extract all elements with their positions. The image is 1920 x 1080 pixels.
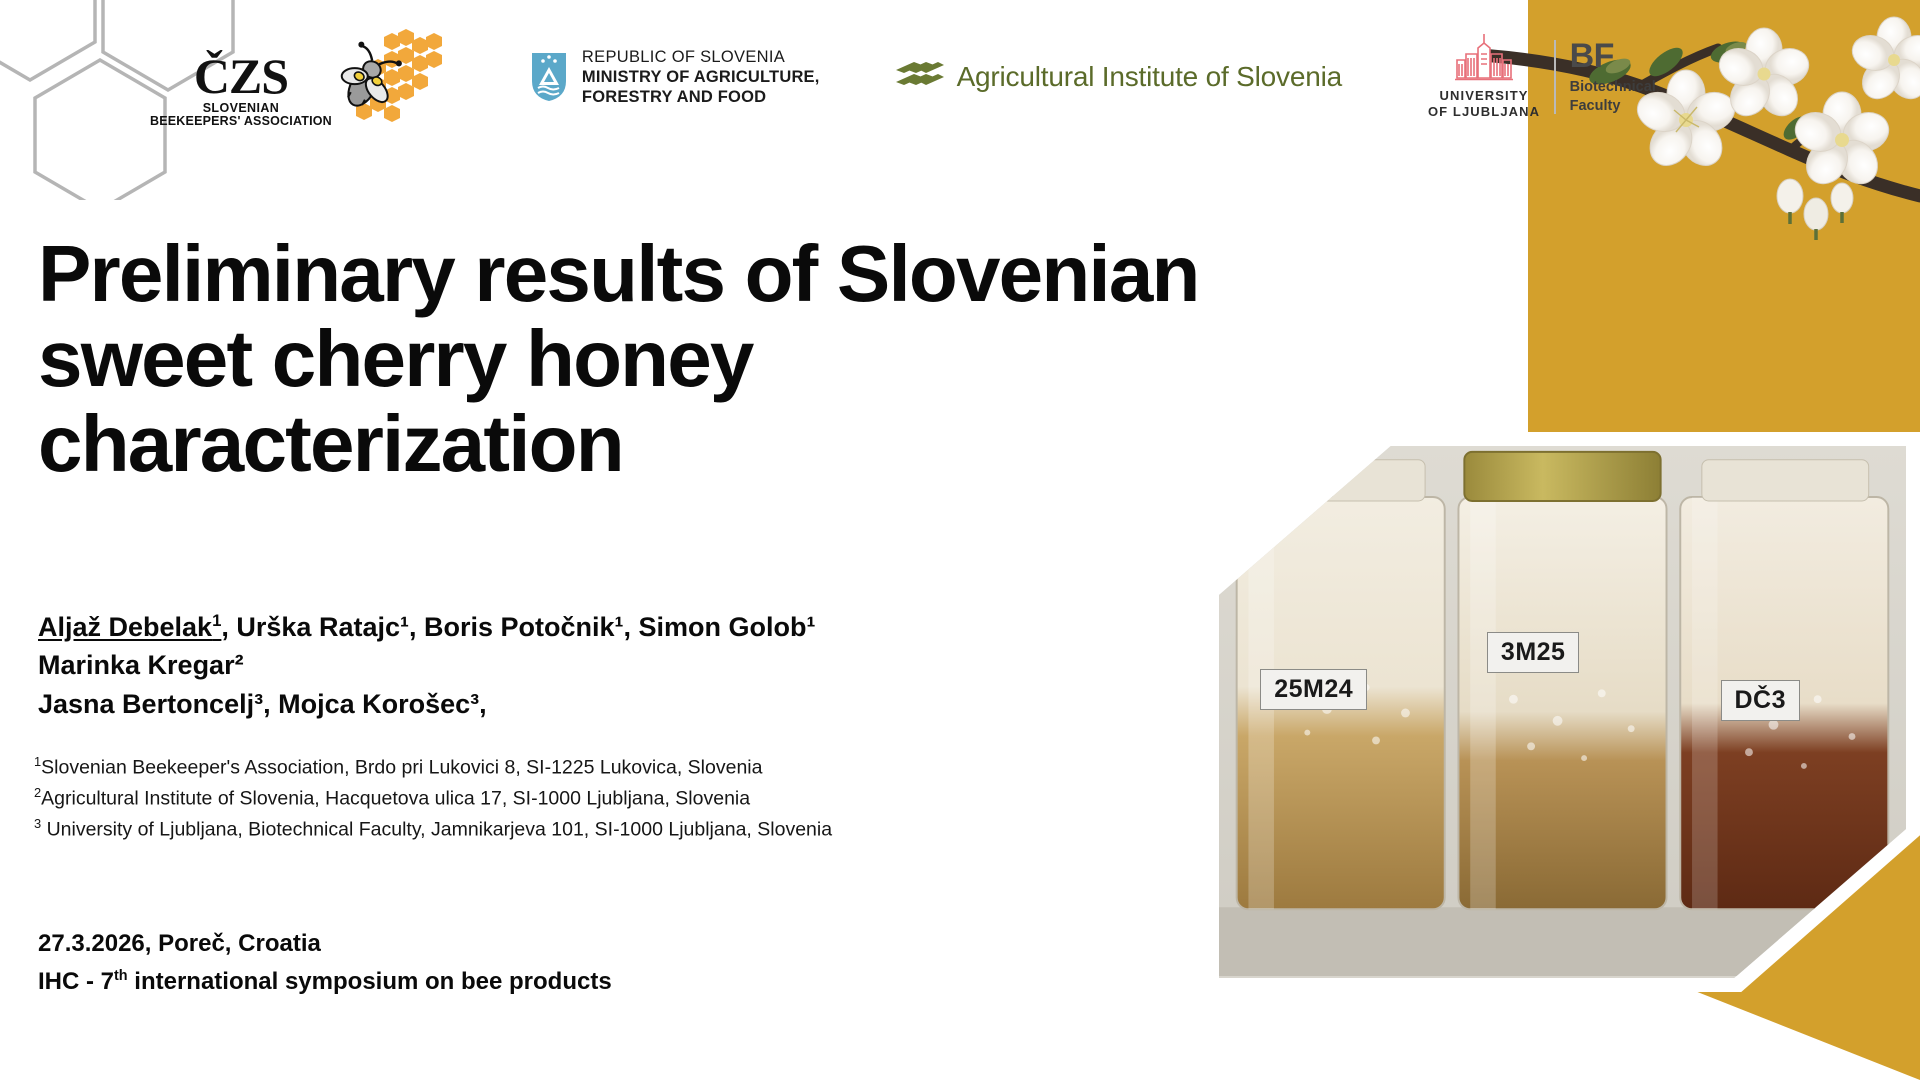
faculty-name-line2: Faculty bbox=[1570, 97, 1656, 115]
event-ordinal-suffix: th bbox=[114, 968, 128, 984]
event-name-suffix: international symposium on bee products bbox=[128, 968, 612, 995]
ministry-line3: FORESTRY AND FOOD bbox=[582, 87, 820, 107]
logo-ministry: REPUBLIC OF SLOVENIA MINISTRY OF AGRICUL… bbox=[530, 47, 820, 107]
author-line-3: Jasna Bertoncelj³, Mojca Korošec³, bbox=[38, 685, 1168, 723]
author-list: Aljaž Debelak1, Urška Ratajc¹, Boris Pot… bbox=[38, 608, 1168, 723]
affiliation-item: 3 University of Ljubljana, Biotechnical … bbox=[34, 814, 1194, 845]
biotechnical-faculty-mark: BF bbox=[1570, 39, 1656, 73]
honey-jars-photo bbox=[1219, 446, 1906, 976]
jar-label-DC3: DČ3 bbox=[1721, 680, 1801, 721]
logo-row: ČZS SLOVENIAN BEEKEEPERS' ASSOCIATION bbox=[150, 22, 1656, 132]
logo-agricultural-institute: Agricultural Institute of Slovenia bbox=[892, 54, 1342, 100]
jar-label-25M24: 25M24 bbox=[1260, 669, 1367, 710]
page-title: Preliminary results of Slovenian sweet c… bbox=[38, 232, 1218, 486]
event-name-prefix: IHC - 7 bbox=[38, 968, 114, 995]
university-name-line2: OF LJUBLJANA bbox=[1428, 104, 1540, 120]
faculty-name-line1: Biotechnical bbox=[1570, 78, 1656, 96]
affiliation-text: University of Ljubljana, Biotechnical Fa… bbox=[41, 819, 832, 841]
bee-honeycomb-icon bbox=[334, 27, 452, 127]
logo-czs: ČZS SLOVENIAN BEEKEEPERS' ASSOCIATION bbox=[150, 27, 452, 127]
affiliation-list: 1Slovenian Beekeeper's Association, Brdo… bbox=[34, 752, 1194, 845]
author-line-1: Aljaž Debelak1, Urška Ratajc¹, Boris Pot… bbox=[38, 608, 1168, 646]
presenting-author-name: Aljaž Debelak bbox=[38, 612, 212, 642]
slide-root: ČZS SLOVENIAN BEEKEEPERS' ASSOCIATION bbox=[0, 0, 1920, 1080]
logo-university-ljubljana: UNIVERSITY OF LJUBLJANA BF Biotechnical … bbox=[1428, 34, 1656, 121]
honey-jars-photo-frame: 25M24 3M25 DČ3 bbox=[1205, 432, 1920, 992]
event-footer: 27.3.2026, Poreč, Croatia IHC - 7th inte… bbox=[38, 925, 612, 1002]
university-building-icon bbox=[1453, 34, 1515, 84]
author-line-2: Marinka Kregar² bbox=[38, 646, 1168, 684]
agricultural-institute-name: Agricultural Institute of Slovenia bbox=[957, 61, 1342, 93]
event-date-location: 27.3.2026, Poreč, Croatia bbox=[38, 925, 612, 963]
affiliation-text: Agricultural Institute of Slovenia, Hacq… bbox=[41, 788, 750, 810]
czs-subtitle-line1: SLOVENIAN bbox=[150, 102, 332, 115]
university-name-line1: UNIVERSITY bbox=[1428, 88, 1540, 104]
ministry-line2: MINISTRY OF AGRICULTURE, bbox=[582, 67, 820, 87]
author-line-1-rest: , Urška Ratajc¹, Boris Potočnik¹, Simon … bbox=[221, 612, 815, 642]
logo-divider bbox=[1554, 40, 1556, 114]
affiliation-text: Slovenian Beekeeper's Association, Brdo … bbox=[41, 757, 762, 779]
jar-label-3M25: 3M25 bbox=[1487, 632, 1580, 673]
czs-mark-text: ČZS bbox=[150, 53, 332, 101]
czs-subtitle-line2: BEEKEEPERS' ASSOCIATION bbox=[150, 115, 332, 128]
wheat-leaf-icon bbox=[892, 54, 944, 100]
affiliation-item: 1Slovenian Beekeeper's Association, Brdo… bbox=[34, 752, 1194, 783]
affiliation-item: 2Agricultural Institute of Slovenia, Hac… bbox=[34, 783, 1194, 814]
event-name: IHC - 7th international symposium on bee… bbox=[38, 963, 612, 1001]
ministry-line1: REPUBLIC OF SLOVENIA bbox=[582, 47, 820, 67]
presenting-author-affiliation-marker: 1 bbox=[212, 611, 221, 630]
slovenia-coat-of-arms-icon bbox=[530, 51, 568, 103]
